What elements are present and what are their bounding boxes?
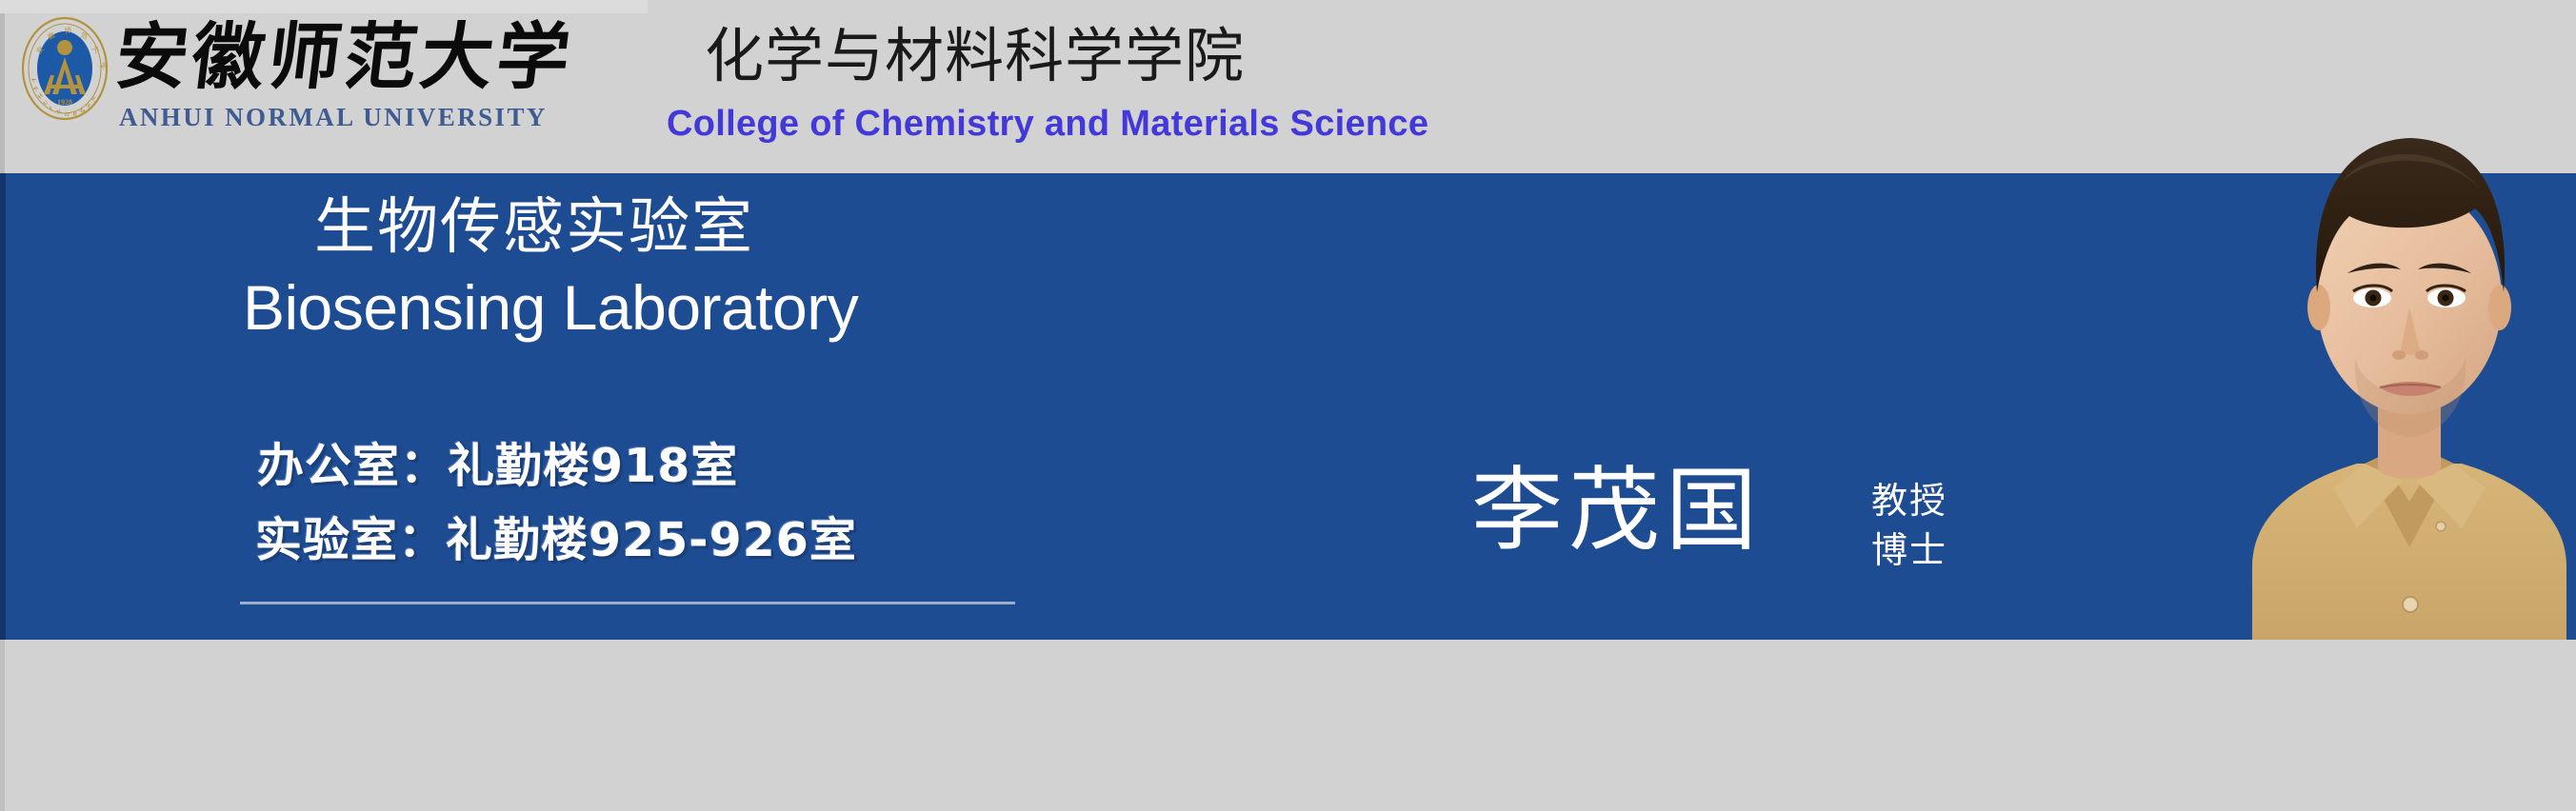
masthead-left-edge	[0, 13, 5, 173]
lab-title-cn: 生物传感实验室	[314, 189, 754, 266]
blue-banner: 生物传感实验室 Biosensing Laboratory 办公室：礼勤楼918…	[0, 173, 2576, 640]
svg-text:O: O	[65, 111, 70, 118]
header-banner-page: 1928 安 徽 师 范 大 学 A N H U I N O R	[0, 0, 2576, 811]
footer-area	[0, 640, 2576, 811]
lab-location-line: 实验室：礼勤楼925-926室	[255, 512, 857, 569]
university-name-en: ANHUI NORMAL UNIVERSITY	[119, 103, 614, 131]
portrait-photo	[2243, 33, 2576, 640]
lab-title-en: Biosensing Laboratory	[243, 268, 858, 346]
university-seal-icon: 1928 安 徽 师 范 大 学 A N H U I N O R	[21, 16, 109, 121]
banner-left-edge	[0, 173, 6, 640]
person-name: 李茂国	[1471, 454, 1763, 566]
person-title-professor: 教授	[1871, 476, 2033, 525]
college-name-en: College of Chemistry and Materials Scien…	[667, 103, 1428, 145]
university-name-cn: 安徽师范大学	[110, 13, 616, 101]
college-name-cn: 化学与材料科学学院	[705, 19, 1245, 93]
office-location-line: 办公室：礼勤楼918室	[257, 438, 738, 495]
person-titles: 教授 博士	[1871, 476, 2033, 575]
masthead-sheen	[0, 0, 648, 13]
person-title-doctor: 博士	[1871, 525, 2033, 575]
svg-text:1928: 1928	[57, 98, 72, 107]
address-divider	[240, 602, 1015, 604]
masthead: 1928 安 徽 师 范 大 学 A N H U I N O R	[0, 0, 2576, 173]
footer-left-edge	[0, 640, 5, 811]
